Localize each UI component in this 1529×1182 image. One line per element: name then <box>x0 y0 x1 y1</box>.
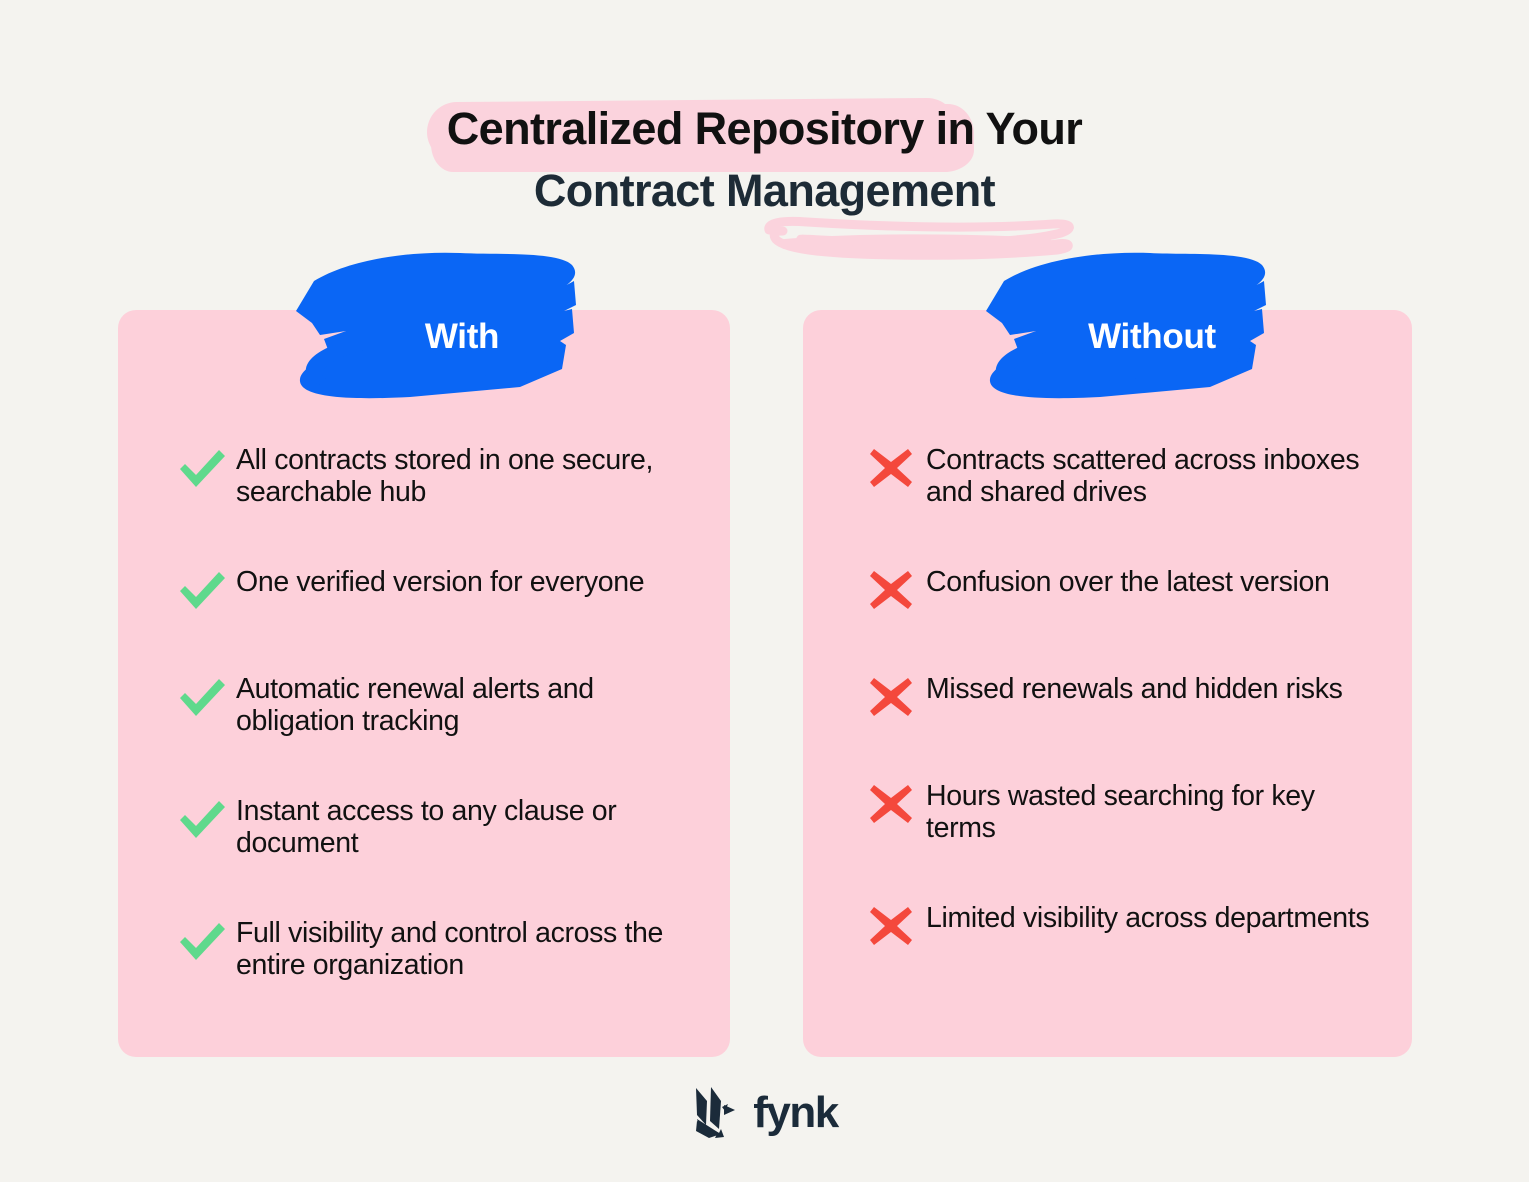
badge-without-label: Without <box>980 249 1310 409</box>
list-without: Contracts scattered across inboxes and s… <box>866 440 1376 951</box>
list-item-label: All contracts stored in one secure, sear… <box>236 440 696 508</box>
list-item-label: One verified version for everyone <box>236 562 644 598</box>
badge-without: Without <box>980 249 1310 409</box>
badge-with: With <box>290 249 620 409</box>
list-item-label: Full visibility and control across the e… <box>236 913 696 981</box>
list-item: One verified version for everyone <box>176 562 696 615</box>
list-item: Instant access to any clause or document <box>176 791 696 859</box>
title-line-1: Centralized Repository in Your <box>0 98 1529 160</box>
footer-logo: fynk <box>0 1085 1529 1141</box>
list-item-label: Limited visibility across departments <box>926 898 1369 934</box>
list-item: Contracts scattered across inboxes and s… <box>866 440 1376 508</box>
list-item: Missed renewals and hidden risks <box>866 669 1376 722</box>
list-item: Hours wasted searching for key terms <box>866 776 1376 844</box>
list-item-label: Instant access to any clause or document <box>236 791 696 859</box>
fynk-bird-logo-icon <box>691 1085 743 1141</box>
list-item-label: Automatic renewal alerts and obligation … <box>236 669 696 737</box>
cross-icon <box>866 445 922 493</box>
check-icon <box>176 796 232 844</box>
title-line-2: Contract Management <box>0 160 1529 222</box>
title-line1-rest: in Your <box>924 103 1083 154</box>
list-item: Limited visibility across departments <box>866 898 1376 951</box>
title-highlight-wrap: Centralized Repository <box>447 98 924 160</box>
cross-icon <box>866 903 922 951</box>
list-item: Full visibility and control across the e… <box>176 913 696 981</box>
cross-icon <box>866 674 922 722</box>
list-item: Confusion over the latest version <box>866 562 1376 615</box>
logo-wordmark: fynk <box>753 1091 837 1135</box>
list-item: Automatic renewal alerts and obligation … <box>176 669 696 737</box>
check-icon <box>176 445 232 493</box>
list-item-label: Missed renewals and hidden risks <box>926 669 1343 705</box>
list-item-label: Confusion over the latest version <box>926 562 1330 598</box>
check-icon <box>176 567 232 615</box>
check-icon <box>176 674 232 722</box>
page-title: Centralized Repository in Your Contract … <box>0 98 1529 222</box>
check-icon <box>176 918 232 966</box>
infographic-canvas: Centralized Repository in Your Contract … <box>0 0 1529 1182</box>
list-with: All contracts stored in one secure, sear… <box>176 440 696 981</box>
cross-icon <box>866 781 922 829</box>
badge-with-label: With <box>290 249 620 409</box>
title-highlighted-text: Centralized Repository <box>447 103 924 154</box>
list-item-label: Hours wasted searching for key terms <box>926 776 1376 844</box>
list-item: All contracts stored in one secure, sear… <box>176 440 696 508</box>
list-item-label: Contracts scattered across inboxes and s… <box>926 440 1376 508</box>
cross-icon <box>866 567 922 615</box>
